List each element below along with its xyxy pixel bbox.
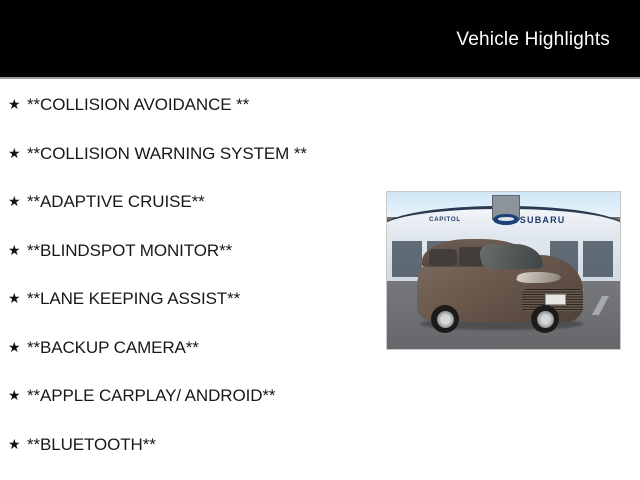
dealer-name-right: SUBARU [520,215,566,225]
star-icon: ★ [8,385,27,406]
list-item: ★ **LANE KEEPING ASSIST** [0,282,380,331]
photo-window-glass [392,239,422,277]
highlight-label: **COLLISION AVOIDANCE ** [27,94,380,115]
vehicle-highlights-list: ★ **COLLISION AVOIDANCE ** ★ **COLLISION… [0,88,380,476]
photo-license-plate [545,294,566,305]
list-item: ★ **COLLISION AVOIDANCE ** [0,88,380,137]
star-icon: ★ [8,240,27,261]
highlight-label: **BLUETOOTH** [27,434,380,455]
dealer-name-left: CAPITOL [429,216,461,223]
list-item: ★ **BACKUP CAMERA** [0,331,380,380]
header-divider [0,77,640,79]
photo-window-glass [583,239,613,277]
list-item: ★ **COLLISION WARNING SYSTEM ** [0,137,380,186]
subaru-logo-icon [493,214,519,225]
list-item: ★ **ADAPTIVE CRUISE** [0,185,380,234]
page-title: Vehicle Highlights [456,29,610,51]
header-bar: Vehicle Highlights [0,0,640,77]
star-icon: ★ [8,191,27,212]
star-icon: ★ [8,434,27,455]
highlight-label: **BLINDSPOT MONITOR** [27,240,380,261]
highlight-label: **ADAPTIVE CRUISE** [27,191,380,212]
highlight-label: **LANE KEEPING ASSIST** [27,288,380,309]
star-icon: ★ [8,143,27,164]
highlight-label: **COLLISION WARNING SYSTEM ** [27,143,380,164]
highlight-label: **BACKUP CAMERA** [27,337,380,358]
list-item: ★ **APPLE CARPLAY/ ANDROID** [0,379,380,428]
list-item: ★ **BLUETOOTH** [0,428,380,477]
star-icon: ★ [8,337,27,358]
photo-vehicle-window [429,249,457,266]
vehicle-photo: CAPITOL SUBARU [386,191,621,350]
star-icon: ★ [8,94,27,115]
star-icon: ★ [8,288,27,309]
list-item: ★ **BLINDSPOT MONITOR** [0,234,380,283]
highlight-label: **APPLE CARPLAY/ ANDROID** [27,385,380,406]
